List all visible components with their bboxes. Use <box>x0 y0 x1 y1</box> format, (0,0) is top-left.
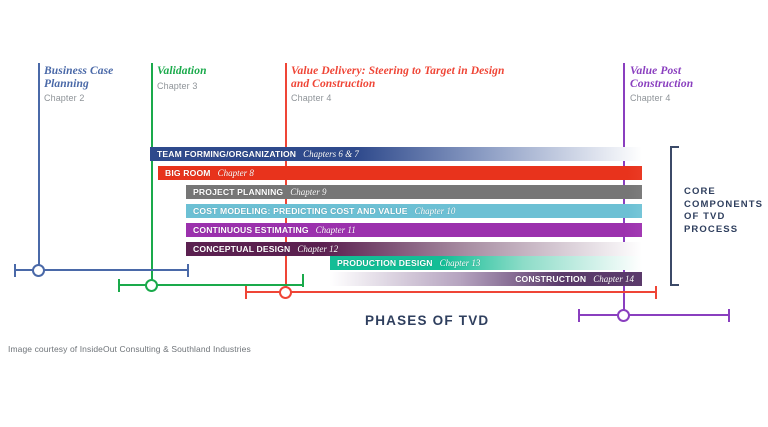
phase-title-line2: Construction <box>630 78 740 91</box>
component-bar-chapter: Chapter 11 <box>309 225 356 235</box>
marker-cap-left <box>245 286 247 299</box>
marker-node <box>617 309 630 322</box>
core-components-label: CORE COMPONENTS OF TVD PROCESS <box>684 186 768 236</box>
component-bar-chapter: Chapter 9 <box>283 187 326 197</box>
image-credit: Image courtesy of InsideOut Consulting &… <box>8 344 251 354</box>
marker-cap-right <box>187 264 189 277</box>
bracket-label-line-3: OF TVD <box>684 211 768 224</box>
phase-header-business-case-planning: Business Case Planning Chapter 2 <box>44 65 144 103</box>
phase-title-line1: Validation <box>157 65 277 78</box>
phase-title-line2: and Construction <box>291 78 621 91</box>
component-bar-label: PROJECT PLANNING <box>186 187 283 197</box>
component-bar-construction: CONSTRUCTION Chapter 14 <box>330 272 642 286</box>
component-bar-chapter: Chapter 13 <box>433 258 481 268</box>
component-bar-conceptual-design: CONCEPTUAL DESIGN Chapter 12 <box>186 242 642 256</box>
component-bar-label: TEAM FORMING/ORGANIZATION <box>150 149 296 159</box>
phase-line-business-case-planning <box>38 63 40 271</box>
component-bar-production-design: PRODUCTION DESIGN Chapter 13 <box>330 256 642 270</box>
phase-title-line2: Planning <box>44 78 144 91</box>
phase-title-line1: Value Post <box>630 65 740 78</box>
phase-title-line1: Value Delivery: Steering to Target in De… <box>291 65 621 78</box>
phase-header-value-post-construction: Value Post Construction Chapter 4 <box>630 65 740 103</box>
component-bar-label: CONSTRUCTION <box>508 274 586 284</box>
phase-chapter-label: Chapter 2 <box>44 93 144 103</box>
component-bar-chapter: Chapter 10 <box>408 206 456 216</box>
marker-node <box>32 264 45 277</box>
component-bar-chapter: Chapter 8 <box>211 168 254 178</box>
marker-track <box>245 291 657 293</box>
component-bar-cost-modeling: COST MODELING: PREDICTING COST AND VALUE… <box>186 204 642 218</box>
component-bar-project-planning: PROJECT PLANNING Chapter 9 <box>186 185 642 199</box>
component-bar-label: PRODUCTION DESIGN <box>330 258 433 268</box>
bracket-arm-bottom <box>670 284 679 286</box>
bracket-label-line-2: COMPONENTS <box>684 199 768 212</box>
marker-cap-right <box>302 274 304 287</box>
marker-node <box>279 286 292 299</box>
marker-cap-left <box>14 264 16 277</box>
bracket-stem <box>670 146 672 286</box>
marker-cap-left <box>578 309 580 322</box>
marker-cap-left <box>118 279 120 292</box>
component-bar-label: COST MODELING: PREDICTING COST AND VALUE <box>186 206 408 216</box>
component-bar-continuous-estimating: CONTINUOUS ESTIMATING Chapter 11 <box>186 223 642 237</box>
phase-chapter-label: Chapter 4 <box>291 93 621 103</box>
component-bar-chapter: Chapter 14 <box>586 274 642 284</box>
component-bar-label: CONCEPTUAL DESIGN <box>186 244 290 254</box>
component-bar-label: CONTINUOUS ESTIMATING <box>186 225 309 235</box>
component-bar-chapter: Chapters 6 & 7 <box>296 149 359 159</box>
marker-node <box>145 279 158 292</box>
phase-header-validation: Validation Chapter 3 <box>157 65 277 91</box>
phase-chapter-label: Chapter 4 <box>630 93 740 103</box>
phase-header-value-delivery: Value Delivery: Steering to Target in De… <box>291 65 621 103</box>
component-bar-big-room: BIG ROOM Chapter 8 <box>158 166 642 180</box>
phase-chapter-label: Chapter 3 <box>157 81 277 91</box>
marker-track <box>578 314 730 316</box>
component-bar-label: BIG ROOM <box>158 168 211 178</box>
phase-title-line1: Business Case <box>44 65 144 78</box>
phases-of-tvd-title: PHASES OF TVD <box>365 313 489 328</box>
component-bar-chapter: Chapter 12 <box>290 244 338 254</box>
bracket-label-line-1: CORE <box>684 186 768 199</box>
bracket-arm-top <box>670 146 679 148</box>
marker-cap-right <box>655 286 657 299</box>
tvd-diagram: Business Case Planning Chapter 2 Validat… <box>0 0 768 427</box>
marker-cap-right <box>728 309 730 322</box>
phase-line-validation <box>151 63 153 286</box>
component-bar-team-forming-organization: TEAM FORMING/ORGANIZATION Chapters 6 & 7 <box>150 147 642 161</box>
bracket-label-line-4: PROCESS <box>684 224 768 237</box>
